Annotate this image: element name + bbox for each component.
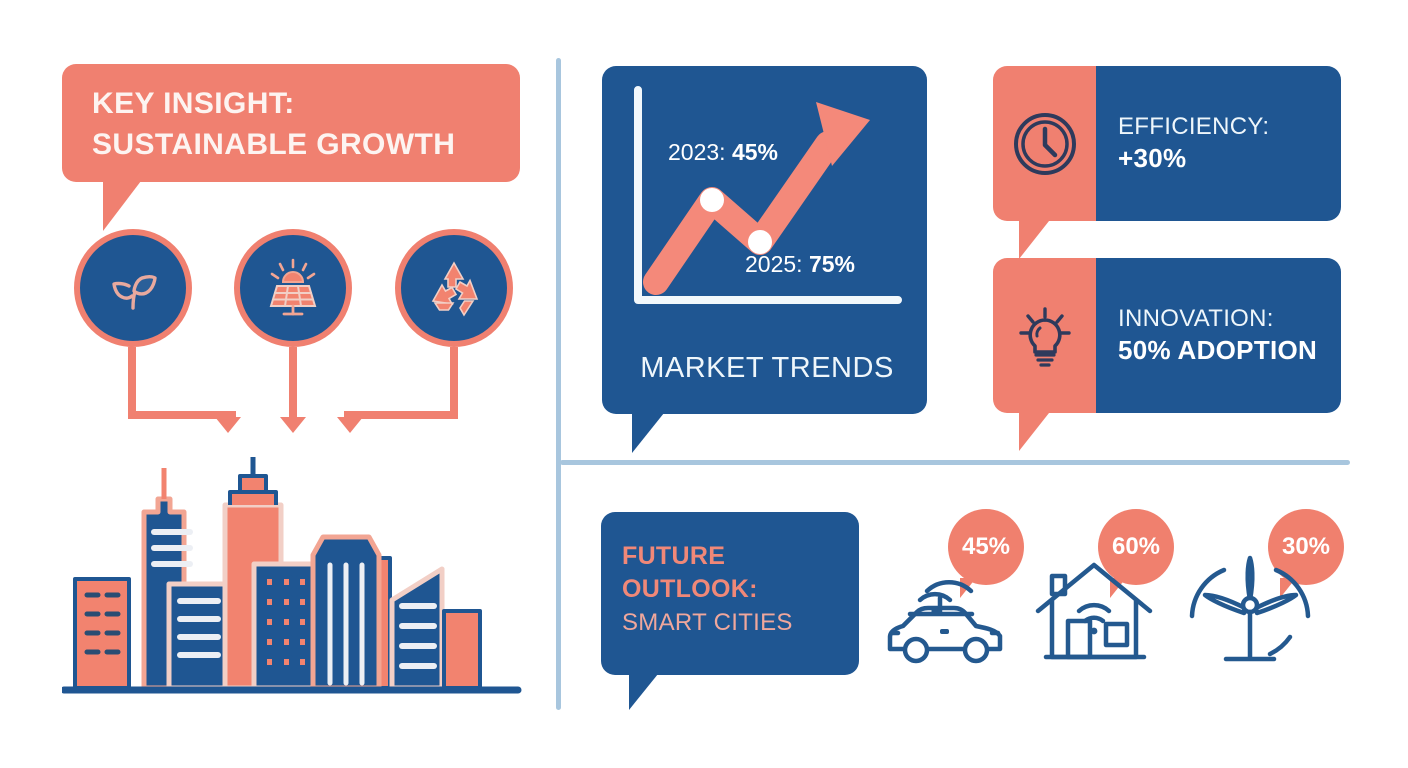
- clock-icon: [1010, 109, 1080, 179]
- leaf-icon: [101, 256, 165, 320]
- connector-leaf-arrow: [215, 417, 241, 433]
- key-insight-bubble-tail: [103, 181, 141, 231]
- connector-recycle-vertical: [450, 347, 458, 419]
- horizontal-divider: [560, 460, 1350, 465]
- future-outlook-line-2: OUTLOOK:: [622, 573, 857, 606]
- pillar-circle-leaf: [74, 229, 192, 347]
- stat-card-text-panel: INNOVATION: 50% ADOPTION: [1096, 258, 1341, 413]
- chart-data-label-2023: 2023: 45%: [668, 139, 778, 166]
- chart-label-value-0: 45%: [732, 139, 778, 165]
- stat-card-label: EFFICIENCY:: [1118, 113, 1341, 141]
- pillar-circle-solar: [234, 229, 352, 347]
- chart-label-year-0: 2023:: [668, 139, 726, 165]
- stat-card-icon-panel: [993, 66, 1096, 221]
- chart-data-label-2025: 2025: 75%: [745, 251, 855, 278]
- connector-recycle-arrow: [337, 417, 363, 433]
- stat-card-innovation: INNOVATION: 50% ADOPTION: [993, 258, 1341, 413]
- pillar-circle-recycle: [395, 229, 513, 347]
- market-trends-chart: [620, 82, 910, 322]
- key-insight-title: KEY INSIGHT: SUSTAINABLE GROWTH: [92, 84, 512, 165]
- city-skyline-illustration: [62, 455, 522, 700]
- connector-leaf-vertical: [128, 347, 136, 419]
- wind-turbine-icon: [1180, 553, 1320, 673]
- connector-solar-vertical: [289, 347, 297, 419]
- stat-card-tail: [1019, 413, 1049, 451]
- key-insight-line-1: KEY INSIGHT:: [92, 84, 512, 125]
- smart-car-icon: [880, 565, 1010, 670]
- stat-card-efficiency: EFFICIENCY: +30%: [993, 66, 1341, 221]
- key-insight-line-2: SUSTAINABLE GROWTH: [92, 125, 512, 166]
- stat-card-text-panel: EFFICIENCY: +30%: [1096, 66, 1341, 221]
- market-trends-title: MARKET TRENDS: [622, 352, 912, 385]
- smart-item-home: 60%: [1028, 505, 1168, 675]
- chart-label-value-1: 75%: [809, 251, 855, 277]
- future-outlook-title: FUTURE OUTLOOK: SMART CITIES: [622, 540, 857, 638]
- percent-value: 45%: [962, 533, 1010, 561]
- smart-item-car: 45%: [880, 505, 1020, 675]
- smart-home-icon: [1032, 557, 1157, 672]
- stat-card-icon-panel: [993, 258, 1096, 413]
- future-outlook-line-1: FUTURE: [622, 540, 857, 573]
- stat-card-label: INNOVATION:: [1118, 305, 1341, 333]
- infographic-canvas: KEY INSIGHT: SUSTAINABLE GROWTH: [0, 0, 1408, 768]
- chart-label-year-1: 2025:: [745, 251, 803, 277]
- market-trends-bubble-tail: [632, 413, 664, 453]
- stat-card-value: +30%: [1118, 143, 1341, 174]
- stat-card-tail: [1019, 221, 1049, 259]
- solar-panel-icon: [259, 254, 327, 322]
- stat-card-value: 50% ADOPTION: [1118, 335, 1341, 366]
- recycle-icon: [421, 255, 487, 321]
- lightbulb-icon: [1010, 301, 1080, 371]
- vertical-divider: [556, 58, 561, 710]
- future-outlook-line-3: SMART CITIES: [622, 607, 857, 639]
- connector-solar-arrow: [280, 417, 306, 433]
- smart-item-turbine: 30%: [1180, 505, 1330, 675]
- future-outlook-bubble-tail: [629, 674, 658, 710]
